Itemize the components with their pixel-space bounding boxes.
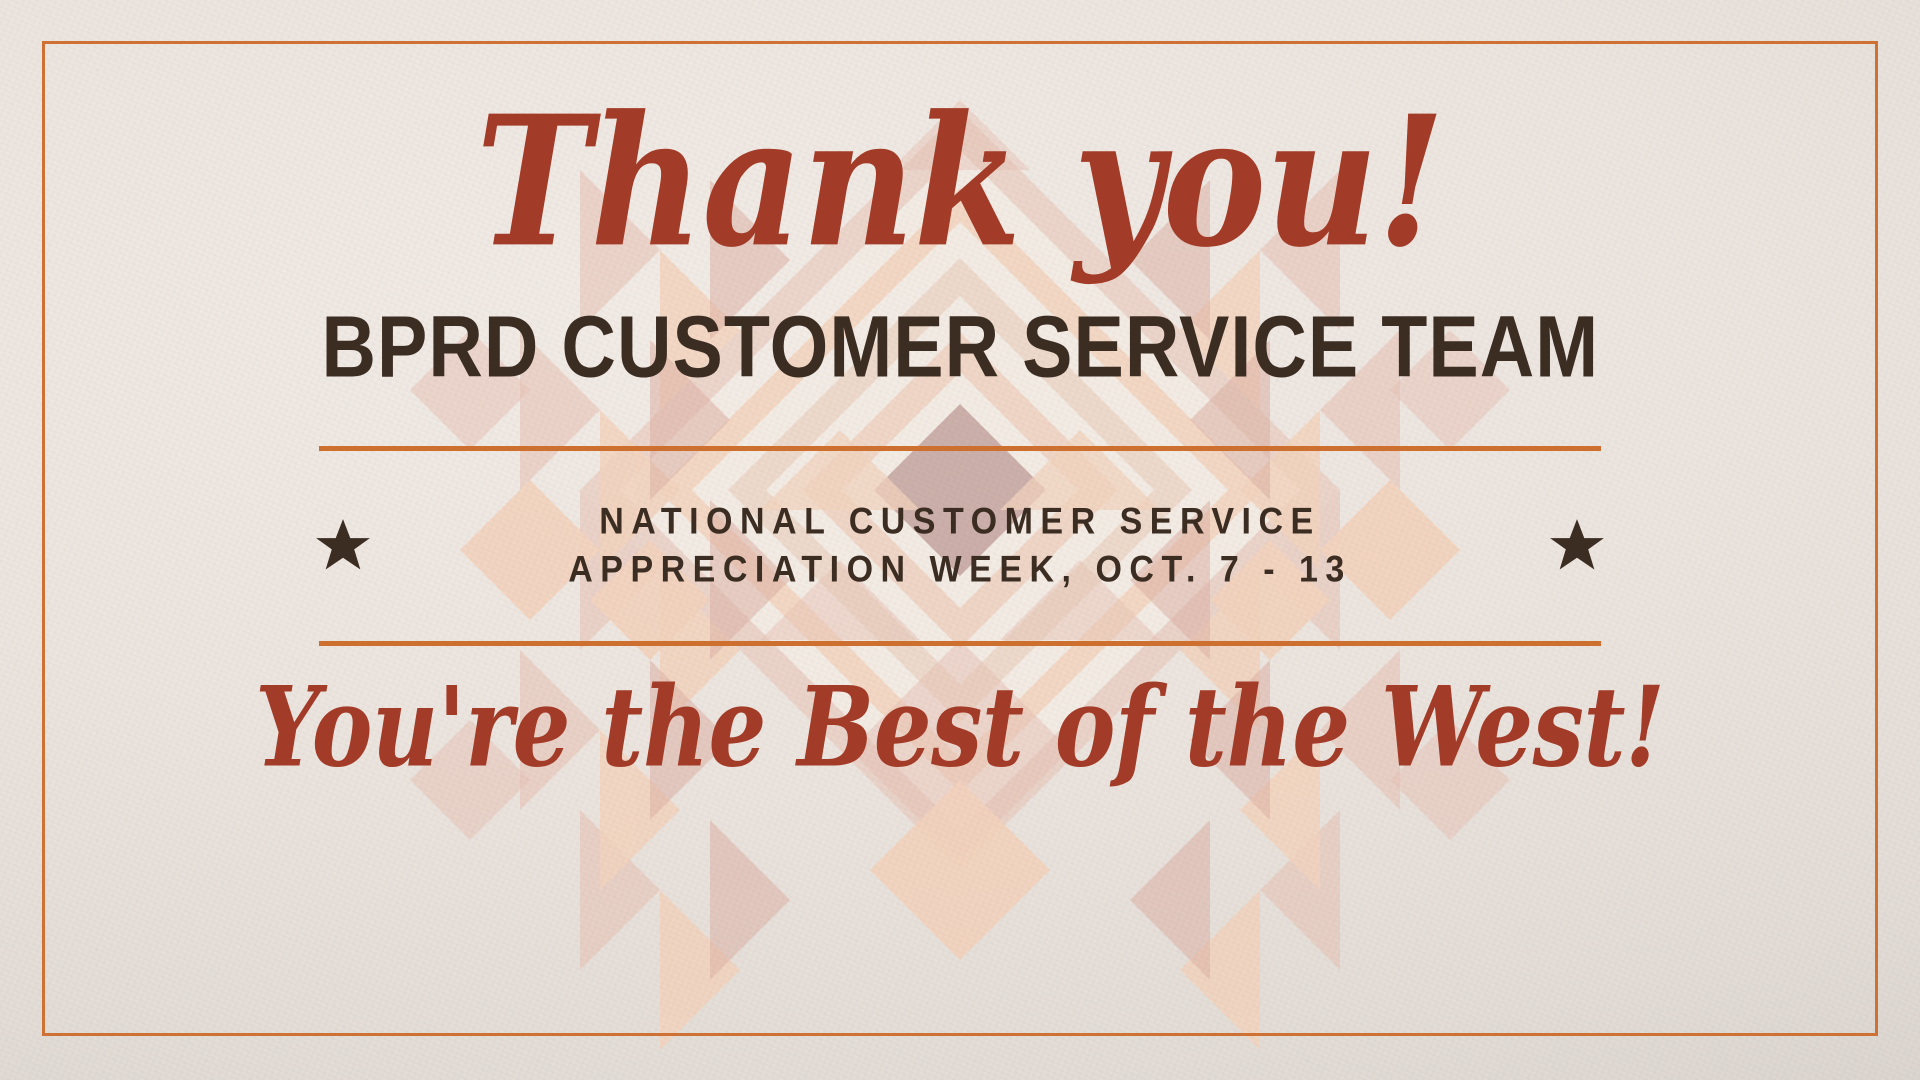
card-content: Thank you! BPRD CUSTOMER SERVICE TEAM NA… (0, 0, 1920, 1080)
closing-script: You're the Best of the West! (255, 672, 1664, 782)
page-title: BPRD CUSTOMER SERVICE TEAM (321, 303, 1599, 390)
greeting-script: Thank you! (476, 92, 1444, 271)
event-subtitle-line-1: NATIONAL CUSTOMER SERVICE (319, 496, 1601, 548)
divider-rule-bottom (319, 641, 1601, 646)
divider-rule-top (319, 446, 1601, 451)
subtitle-block: NATIONAL CUSTOMER SERVICE APPRECIATION W… (319, 446, 1601, 646)
six-point-star-icon (1549, 518, 1605, 574)
thank-you-card: Thank you! BPRD CUSTOMER SERVICE TEAM NA… (0, 0, 1920, 1080)
event-subtitle-line-2: APPRECIATION WEEK, OCT. 7 - 13 (319, 544, 1601, 596)
event-subtitle: NATIONAL CUSTOMER SERVICE APPRECIATION W… (319, 498, 1601, 595)
